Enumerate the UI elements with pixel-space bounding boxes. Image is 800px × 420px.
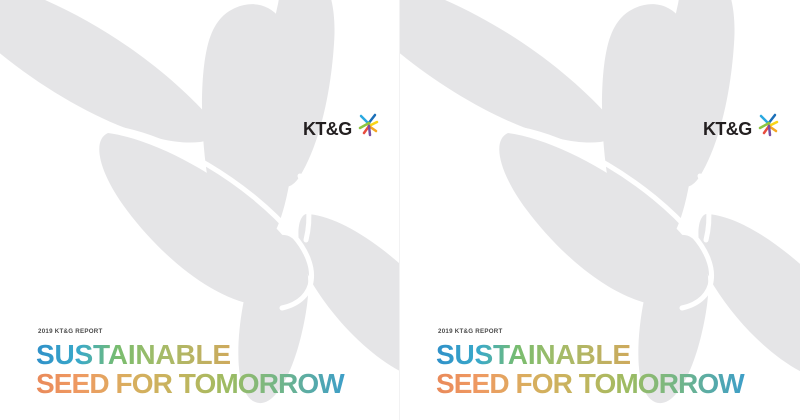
cover-headline: SUSTAINABLE SEED FOR TOMORROW xyxy=(36,340,388,402)
petal-upper-right xyxy=(269,0,334,187)
kt-g-logo[interactable]: KT&G xyxy=(303,119,381,138)
headline-line-2: SEED FOR TOMORROW xyxy=(36,368,345,399)
petal-upper-left xyxy=(0,0,214,143)
headline-line-1: SUSTAINABLE xyxy=(36,340,231,370)
cover-spread: KT&G 2019 KT&G REPORT xyxy=(0,0,800,420)
kt-g-wordmark: KT&G xyxy=(703,120,752,138)
headline-line-1: SUSTAINABLE xyxy=(436,340,631,370)
kt-g-logo[interactable]: KT&G xyxy=(703,119,781,138)
kt-g-wordmark: KT&G xyxy=(303,120,352,138)
cover-eyebrow: 2019 KT&G REPORT xyxy=(38,328,388,335)
cover-title-block: 2019 KT&G REPORT xyxy=(436,328,788,402)
cover-headline: SUSTAINABLE SEED FOR TOMORROW xyxy=(436,340,788,402)
petal-upper-left xyxy=(400,0,614,143)
cover-eyebrow: 2019 KT&G REPORT xyxy=(438,328,788,335)
petal-upper-right xyxy=(669,0,734,187)
cover-panel-left[interactable]: KT&G 2019 KT&G REPORT xyxy=(0,0,400,420)
cover-title-block: 2019 KT&G REPORT xyxy=(36,328,388,402)
kt-g-pinwheel-symbol xyxy=(755,112,781,138)
headline-line-2: SEED FOR TOMORROW xyxy=(436,368,745,399)
kt-g-pinwheel-symbol xyxy=(355,112,381,138)
cover-panel-right[interactable]: KT&G 2019 KT&G REPORT xyxy=(400,0,800,420)
